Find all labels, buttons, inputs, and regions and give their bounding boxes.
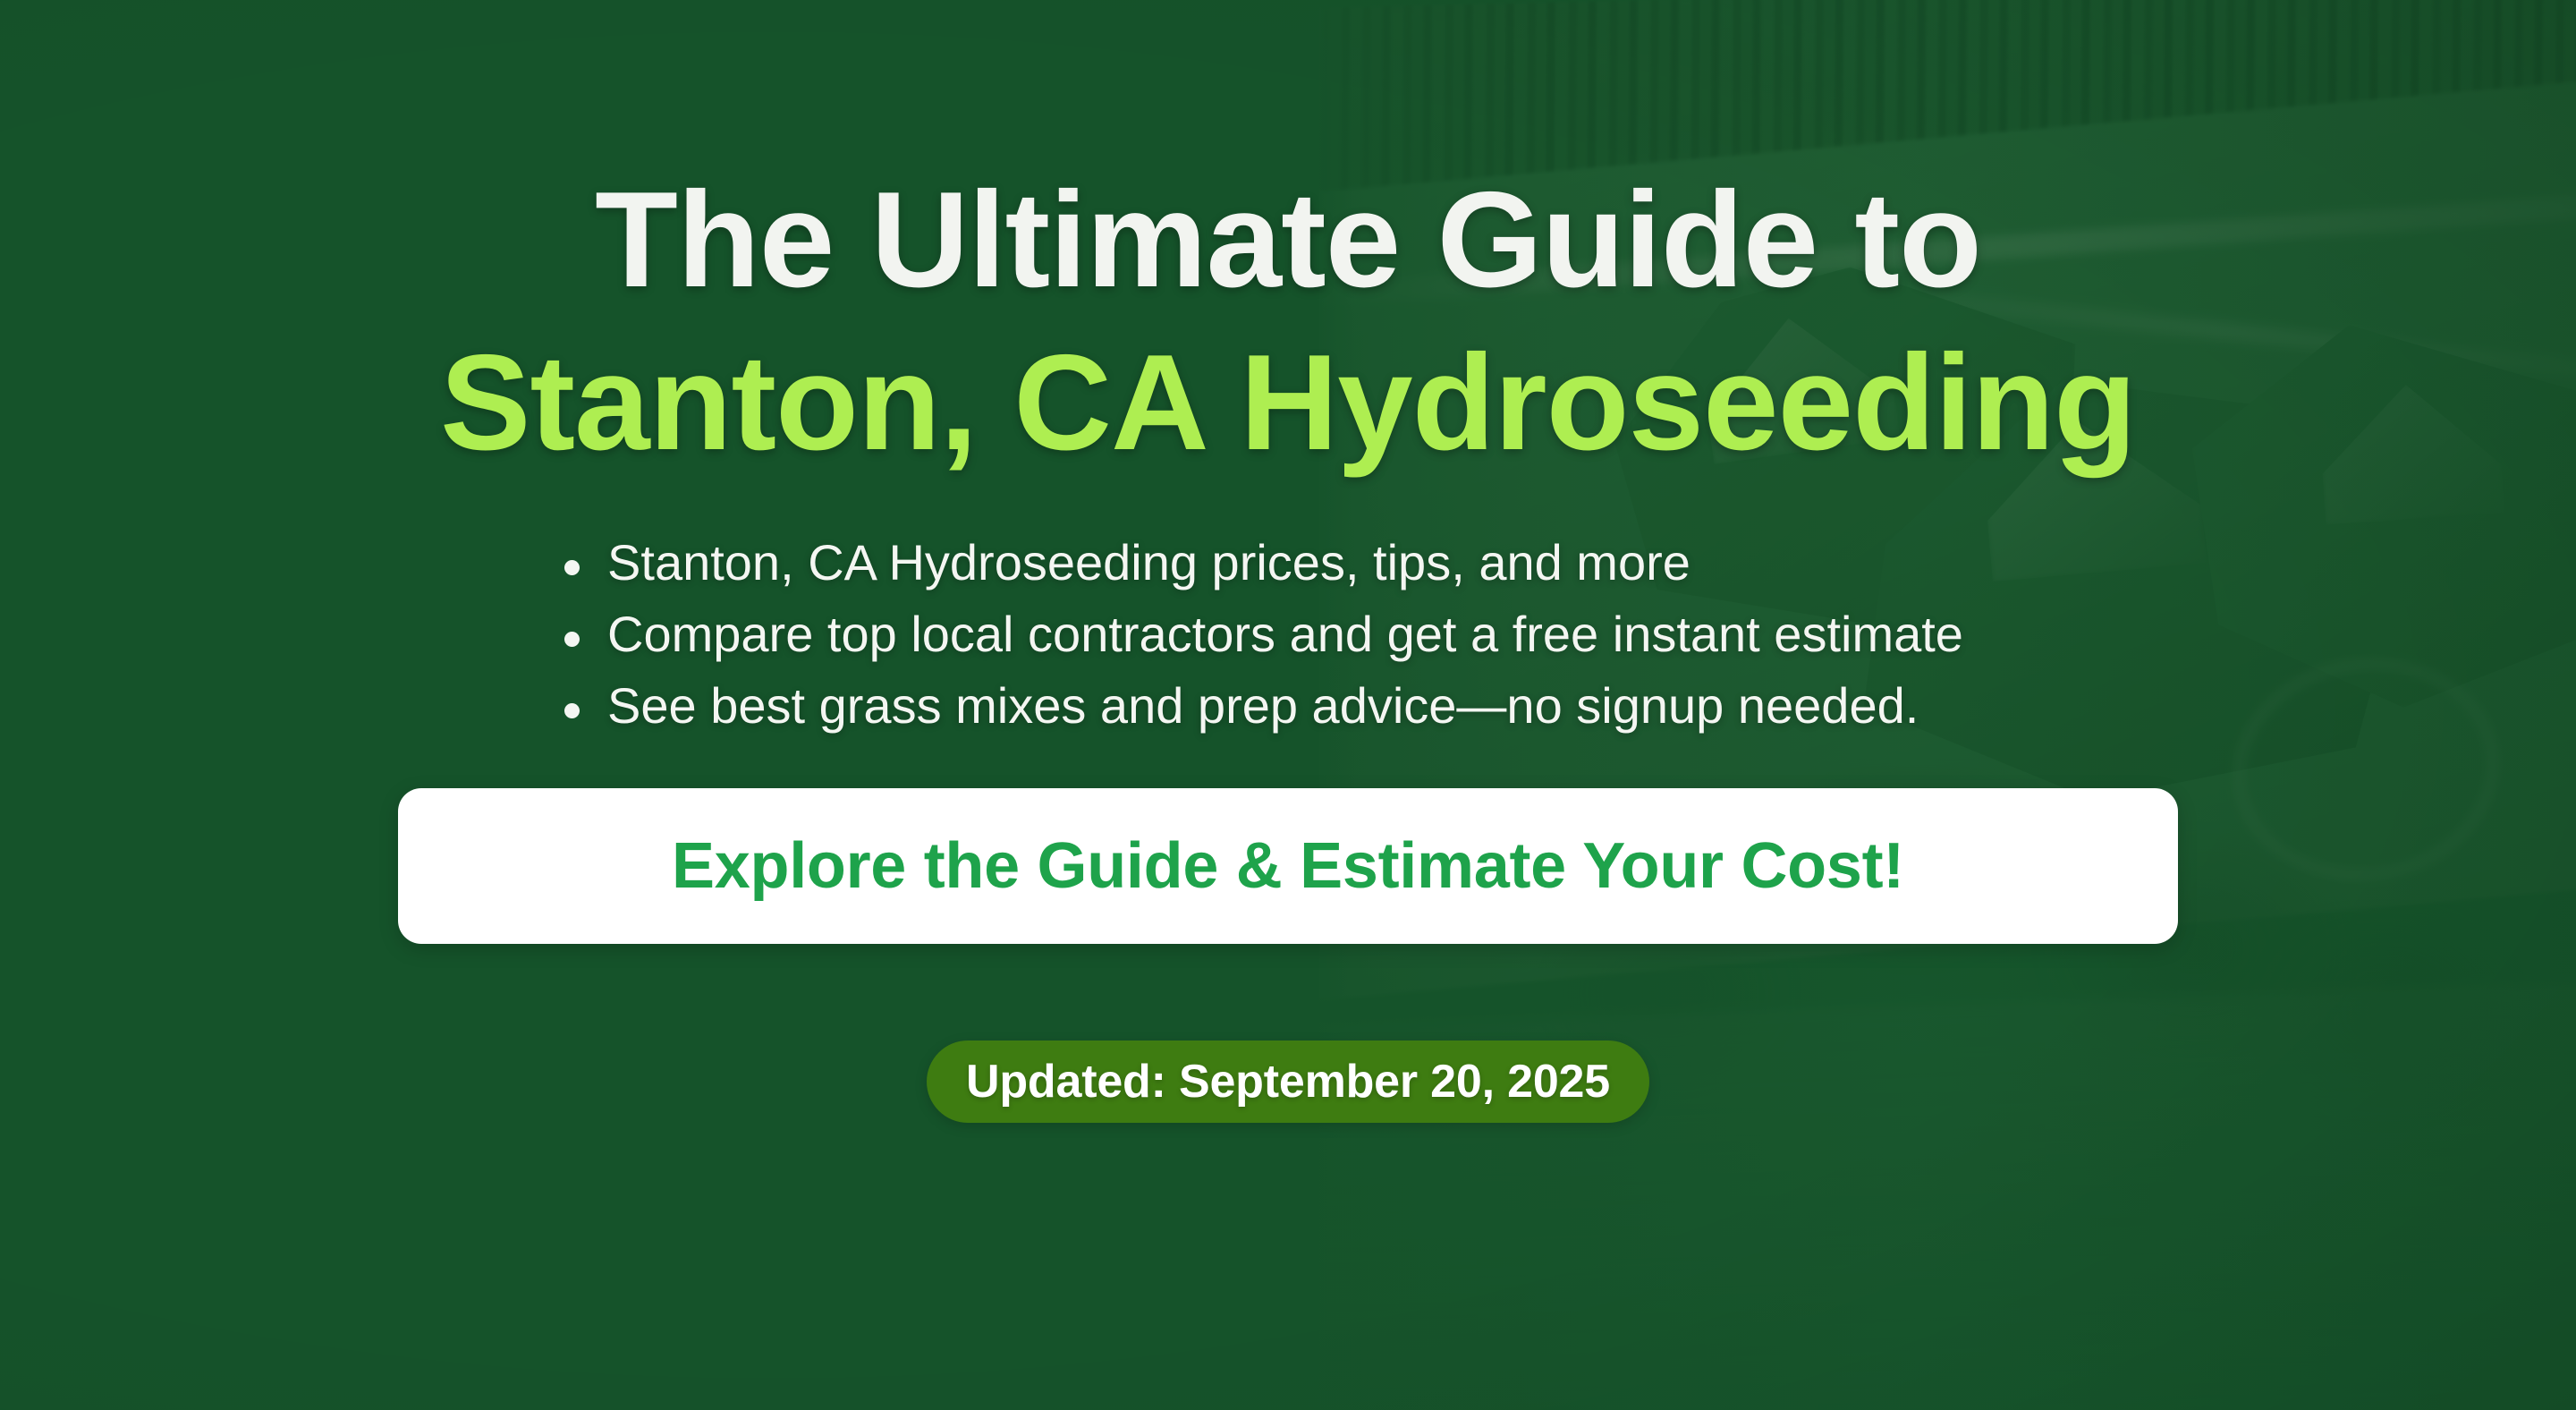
list-item: Compare top local contractors and get a …	[559, 608, 1963, 660]
explore-guide-button[interactable]: Explore the Guide & Estimate Your Cost!	[398, 788, 2178, 944]
list-item: See best grass mixes and prep advice—no …	[559, 680, 1963, 732]
updated-date-badge: Updated: September 20, 2025	[927, 1041, 1649, 1123]
headline-line-1: The Ultimate Guide to	[0, 172, 2576, 308]
benefit-list: Stanton, CA Hydroseeding prices, tips, a…	[559, 537, 1963, 733]
page-title: The Ultimate Guide to Stanton, CA Hydros…	[0, 0, 2576, 471]
headline-line-2: Stanton, CA Hydroseeding	[0, 335, 2576, 471]
list-item: Stanton, CA Hydroseeding prices, tips, a…	[559, 537, 1963, 589]
hero-banner: The Ultimate Guide to Stanton, CA Hydros…	[0, 0, 2576, 1410]
hero-content: The Ultimate Guide to Stanton, CA Hydros…	[0, 0, 2576, 1410]
